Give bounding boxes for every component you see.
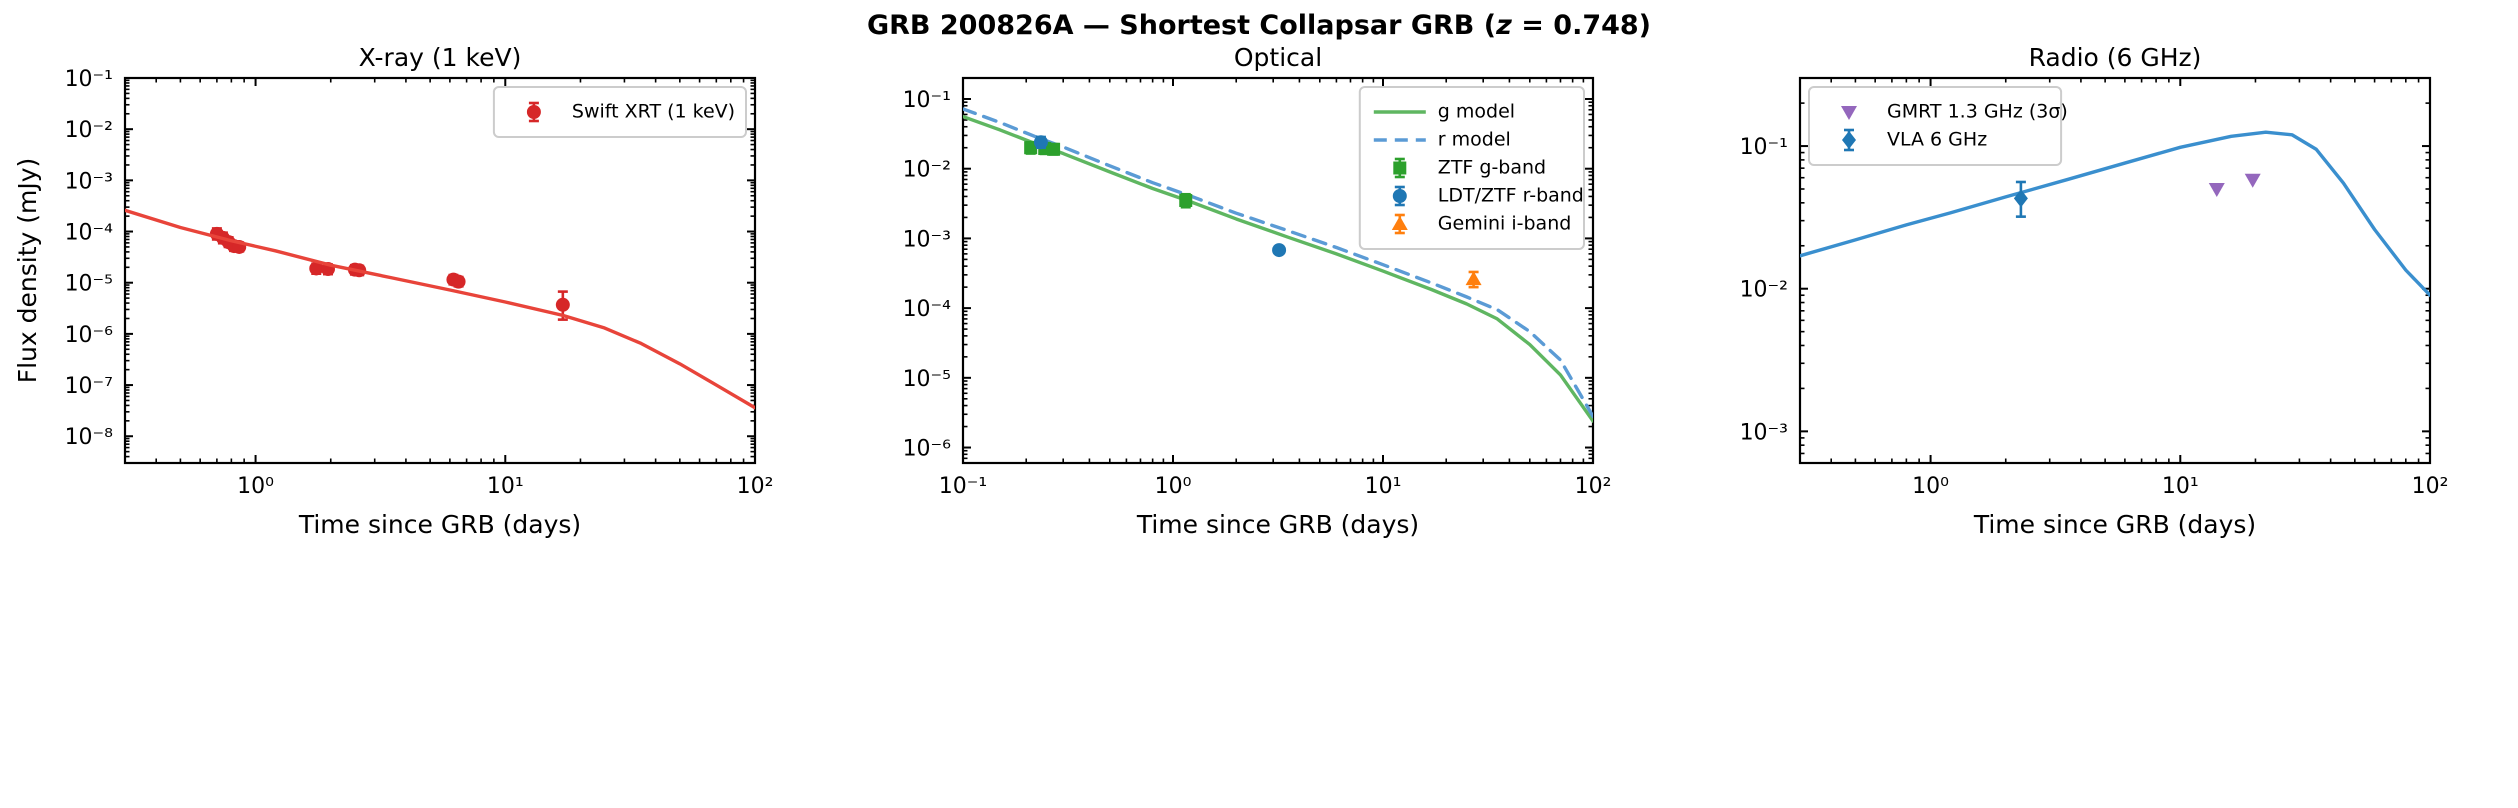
legend-label: Swift XRT (1 keV) xyxy=(572,101,735,123)
xtick-label: 10¹ xyxy=(1365,474,1402,499)
xtick-label: 10¹ xyxy=(487,474,524,499)
legend-box-radio xyxy=(1809,87,2061,165)
legend-label: GMRT 1.3 GHz (3σ) xyxy=(1887,101,2068,123)
data-point-triangle-up xyxy=(1466,271,1482,285)
ytick-label: 10⁻⁵ xyxy=(65,272,113,297)
xtick-label: 10⁰ xyxy=(1155,474,1192,499)
data-point-square xyxy=(1179,194,1192,207)
xaxis-label-xray: Time since GRB (days) xyxy=(298,510,581,539)
panel-radio: Radio (6 GHz)10⁰10¹10²10⁻¹10⁻²10⁻³Time s… xyxy=(1740,43,2449,539)
xtick-label: 10² xyxy=(2412,474,2449,499)
xtick-label: 10² xyxy=(1575,474,1612,499)
ytick-label: 10⁻² xyxy=(65,118,113,143)
ytick-label: 10⁻⁴ xyxy=(903,297,952,322)
yaxis-label: Flux density (mJy) xyxy=(13,158,42,384)
ytick-label: 10⁻⁴ xyxy=(65,221,114,246)
data-point-circle xyxy=(556,298,570,312)
ytick-label: 10⁻¹ xyxy=(1740,135,1788,160)
figure-suptitle: GRB 200826A — Shortest Collapsar GRB (z … xyxy=(0,10,2518,41)
legend-radio: GMRT 1.3 GHz (3σ)VLA 6 GHz xyxy=(1809,87,2068,165)
legend-swatch-circle xyxy=(527,105,541,119)
data-point-circle xyxy=(1272,243,1286,257)
xtick-label: 10⁰ xyxy=(1912,474,1949,499)
legend-optical: g modelr modelZTF g-bandLDT/ZTF r-bandGe… xyxy=(1360,87,1584,249)
legend-label: g model xyxy=(1438,101,1515,123)
panel-xray: X-ray (1 keV)10⁰10¹10²10⁻¹10⁻²10⁻³10⁻⁴10… xyxy=(65,43,774,539)
xaxis-label-optical: Time since GRB (days) xyxy=(1136,510,1419,539)
ytick-label: 10⁻³ xyxy=(65,169,113,194)
panel-title-radio: Radio (6 GHz) xyxy=(2029,43,2202,72)
ytick-label: 10⁻⁶ xyxy=(65,323,114,348)
ytick-label: 10⁻¹ xyxy=(65,67,113,92)
legend-label: LDT/ZTF r-band xyxy=(1438,185,1584,207)
ytick-label: 10⁻³ xyxy=(903,227,951,252)
legend-swatch-square xyxy=(1393,162,1406,175)
suptitle-redshift-symbol: z xyxy=(1496,10,1512,41)
ytick-label: 10⁻¹ xyxy=(903,88,951,113)
data-point-square xyxy=(1047,143,1060,156)
legend-label: VLA 6 GHz xyxy=(1887,129,1987,151)
suptitle-text-part1: GRB 200826A — Shortest Collapsar GRB ( xyxy=(867,10,1496,41)
ytick-label: 10⁻³ xyxy=(1740,420,1788,445)
panel-optical: Optical10⁻¹10⁰10¹10²10⁻¹10⁻²10⁻³10⁻⁴10⁻⁵… xyxy=(903,43,1612,539)
xtick-label: 10⁻¹ xyxy=(939,474,987,499)
xtick-label: 10² xyxy=(737,474,774,499)
ytick-label: 10⁻⁶ xyxy=(903,437,952,462)
xaxis-label-radio: Time since GRB (days) xyxy=(1973,510,2256,539)
legend-xray: Swift XRT (1 keV) xyxy=(494,87,746,137)
figure-root: GRB 200826A — Shortest Collapsar GRB (z … xyxy=(0,0,2518,808)
legend-label: ZTF g-band xyxy=(1438,157,1546,179)
ytick-label: 10⁻² xyxy=(1740,278,1788,303)
legend-swatch-circle xyxy=(1393,189,1407,203)
data-point-triangle-down xyxy=(2245,174,2261,188)
ytick-label: 10⁻⁵ xyxy=(903,367,951,392)
xtick-label: 10¹ xyxy=(2162,474,2199,499)
legend-label: r model xyxy=(1438,129,1511,151)
legend-label: Gemini i-band xyxy=(1438,213,1572,235)
data-point-circle xyxy=(1034,135,1048,149)
ytick-label: 10⁻⁷ xyxy=(65,374,113,399)
panel-title-xray: X-ray (1 keV) xyxy=(359,43,522,72)
data-point-triangle-down xyxy=(2209,183,2225,197)
suptitle-text-part2: = 0.748) xyxy=(1512,10,1651,41)
xtick-label: 10⁰ xyxy=(237,474,274,499)
data-layer-xray xyxy=(125,210,755,407)
ytick-label: 10⁻² xyxy=(903,158,951,183)
ytick-label: 10⁻⁸ xyxy=(65,425,114,450)
plot-canvas: X-ray (1 keV)10⁰10¹10²10⁻¹10⁻²10⁻³10⁻⁴10… xyxy=(0,40,2518,808)
panel-title-optical: Optical xyxy=(1234,43,1322,72)
data-point-circle xyxy=(452,275,466,289)
